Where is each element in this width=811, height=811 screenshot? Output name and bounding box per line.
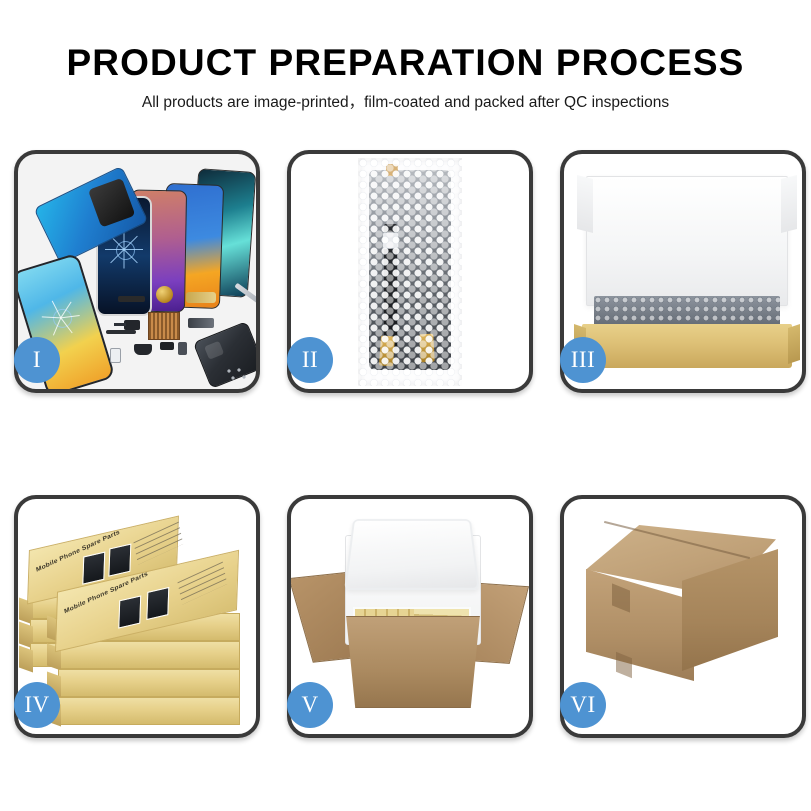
- step-panel-carton-with-foam-and-boxes[interactable]: V: [287, 495, 533, 738]
- box-screen-image: [118, 595, 141, 628]
- page-header: PRODUCT PREPARATION PROCESS All products…: [0, 0, 811, 111]
- box-screen-image: [146, 587, 169, 620]
- step-badge-3: III: [560, 337, 606, 383]
- copper-mesh-part: [148, 312, 180, 340]
- earpiece-speaker-part: [118, 296, 145, 302]
- box-screen-image: [108, 543, 131, 576]
- sim-tray-part: [178, 342, 187, 355]
- page-title: PRODUCT PREPARATION PROCESS: [0, 44, 811, 81]
- carton-front-panel: [337, 616, 489, 708]
- spare-parts-cluster: [104, 286, 254, 389]
- page-subtitle: All products are image-printed，film-coat…: [0, 95, 811, 111]
- gold-box-stacked: [58, 669, 240, 697]
- step-badge-1: I: [14, 337, 60, 383]
- camera-module-part: [124, 320, 140, 330]
- step-panel-open-gold-box-with-foam[interactable]: III: [560, 150, 806, 393]
- bubble-wrap-texture: [358, 158, 462, 386]
- vibration-motor-part: [156, 286, 173, 303]
- button-flex-part: [160, 342, 174, 350]
- box-spec-lines: [177, 560, 227, 605]
- step-panel-bubble-wrapped-screen[interactable]: II: [287, 150, 533, 393]
- step-badge-2: II: [287, 337, 333, 383]
- foam-lid: [344, 519, 480, 590]
- step-badge-4: IV: [14, 682, 60, 728]
- tweezers-tool: [234, 283, 256, 311]
- step-panel-phone-screens-and-parts[interactable]: I: [14, 150, 260, 393]
- screen-crack-pattern: [36, 293, 86, 343]
- ribbon-cable-part: [106, 330, 136, 334]
- gold-box-stacked: [58, 697, 240, 725]
- step-panel-sealed-shipping-carton[interactable]: VI: [560, 495, 806, 738]
- box-spec-lines: [133, 520, 183, 565]
- connector-flex-part: [188, 318, 214, 328]
- box-screen-image: [82, 551, 105, 584]
- step-badge-6: VI: [560, 682, 606, 728]
- sim-card-part: [110, 348, 121, 363]
- process-steps-grid: I II III: [14, 150, 797, 738]
- screws-part: [226, 368, 248, 382]
- bubble-wrap-package: [358, 158, 462, 386]
- white-box-lid: [586, 176, 788, 306]
- gold-flex-cable-part: [186, 292, 216, 303]
- gold-box-base: [582, 324, 792, 368]
- step-badge-5: V: [287, 682, 333, 728]
- loudspeaker-part: [134, 344, 152, 355]
- step-panel-stacked-gold-boxes[interactable]: Mobile Phone Spare Parts Mobile Phone Sp…: [14, 495, 260, 738]
